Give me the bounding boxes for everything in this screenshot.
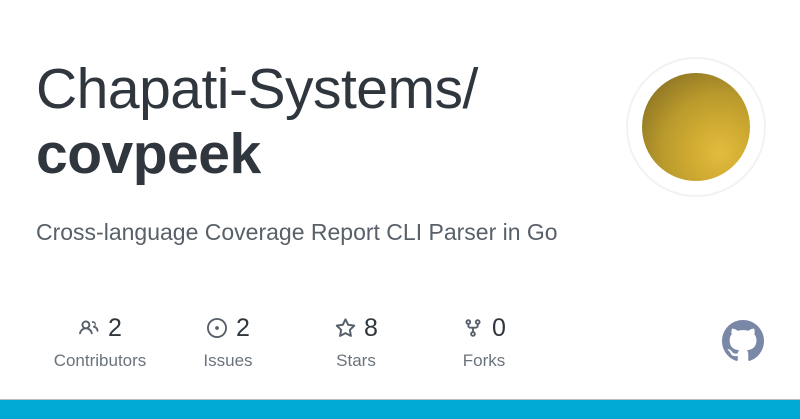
star-icon bbox=[334, 317, 356, 339]
stat-issues-top: 2 bbox=[206, 314, 250, 342]
stat-contributors-label: Contributors bbox=[54, 351, 147, 371]
stat-stars-value: 8 bbox=[364, 314, 378, 342]
stat-forks: 0 Forks bbox=[420, 314, 548, 371]
stat-contributors-top: 2 bbox=[78, 314, 122, 342]
stat-issues: 2 Issues bbox=[164, 314, 292, 371]
accent-bar bbox=[0, 400, 800, 419]
owner-avatar-ring bbox=[626, 57, 766, 197]
repository-owner: Chapati-Systems/ bbox=[36, 56, 616, 122]
stat-stars: 8 Stars bbox=[292, 314, 420, 371]
stat-issues-label: Issues bbox=[203, 351, 252, 371]
github-mark-icon bbox=[722, 320, 764, 362]
repo-forked-icon bbox=[462, 317, 484, 339]
owner-avatar bbox=[642, 73, 750, 181]
repository-description: Cross-language Coverage Report CLI Parse… bbox=[36, 216, 736, 248]
people-icon bbox=[78, 317, 100, 339]
stat-forks-top: 0 bbox=[462, 314, 506, 342]
repository-name: covpeek bbox=[36, 122, 616, 186]
stat-issues-value: 2 bbox=[236, 314, 250, 342]
issue-opened-icon bbox=[206, 317, 228, 339]
stat-contributors-value: 2 bbox=[108, 314, 122, 342]
stat-stars-top: 8 bbox=[334, 314, 378, 342]
repository-title: Chapati-Systems/ covpeek bbox=[36, 56, 616, 186]
stat-forks-label: Forks bbox=[463, 351, 506, 371]
stat-contributors: 2 Contributors bbox=[36, 314, 164, 371]
stat-forks-value: 0 bbox=[492, 314, 506, 342]
repository-social-preview-card: Chapati-Systems/ covpeek Cross-language … bbox=[0, 0, 800, 419]
repository-stats: 2 Contributors 2 Issues bbox=[36, 314, 548, 371]
stat-stars-label: Stars bbox=[336, 351, 376, 371]
